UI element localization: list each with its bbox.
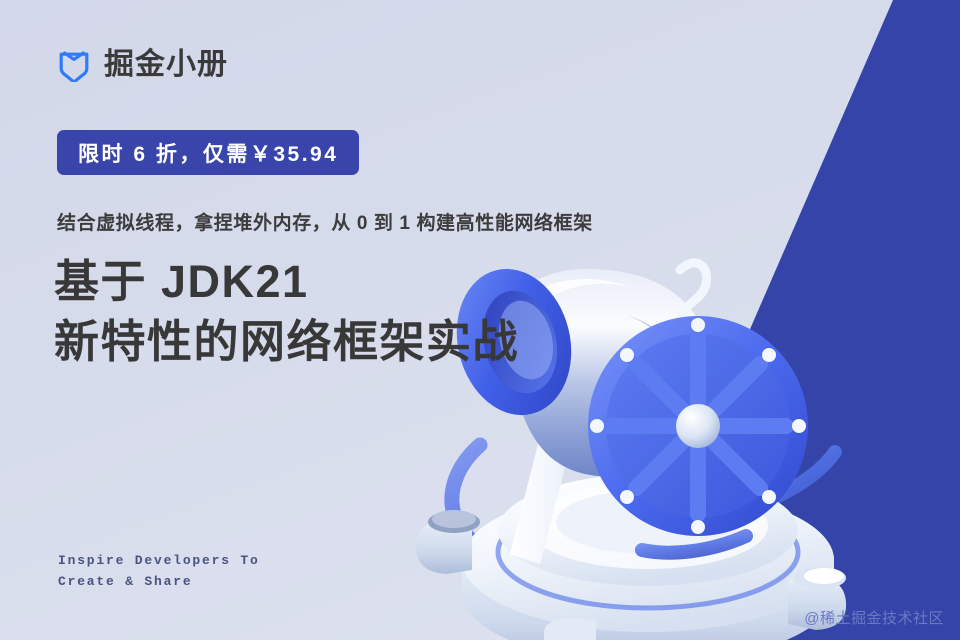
- brand-tagline-line-2: Create & Share: [58, 572, 260, 593]
- brand-name: 掘金小册: [104, 50, 228, 80]
- spoked-wheel: [588, 316, 808, 536]
- brand-tagline-line-1: Inspire Developers To: [58, 551, 260, 572]
- course-title-line-1: 基于 JDK21: [54, 252, 519, 312]
- watermark: @稀土掘金技术社区: [804, 607, 944, 628]
- promo-banner: 掘金小册 限时 6 折，仅需￥35.94 结合虚拟线程，拿捏堆外内存，从 0 到…: [0, 0, 960, 640]
- course-title: 基于 JDK21 新特性的网络框架实战: [54, 252, 519, 372]
- brand-tagline: Inspire Developers To Create & Share: [58, 551, 260, 593]
- juejin-book-logo-icon: [57, 48, 91, 82]
- promo-price-badge[interactable]: 限时 6 折，仅需￥35.94: [57, 130, 359, 175]
- fuse: [680, 263, 707, 318]
- brand-logo[interactable]: 掘金小册: [57, 48, 228, 82]
- course-title-line-2: 新特性的网络框架实战: [54, 312, 519, 372]
